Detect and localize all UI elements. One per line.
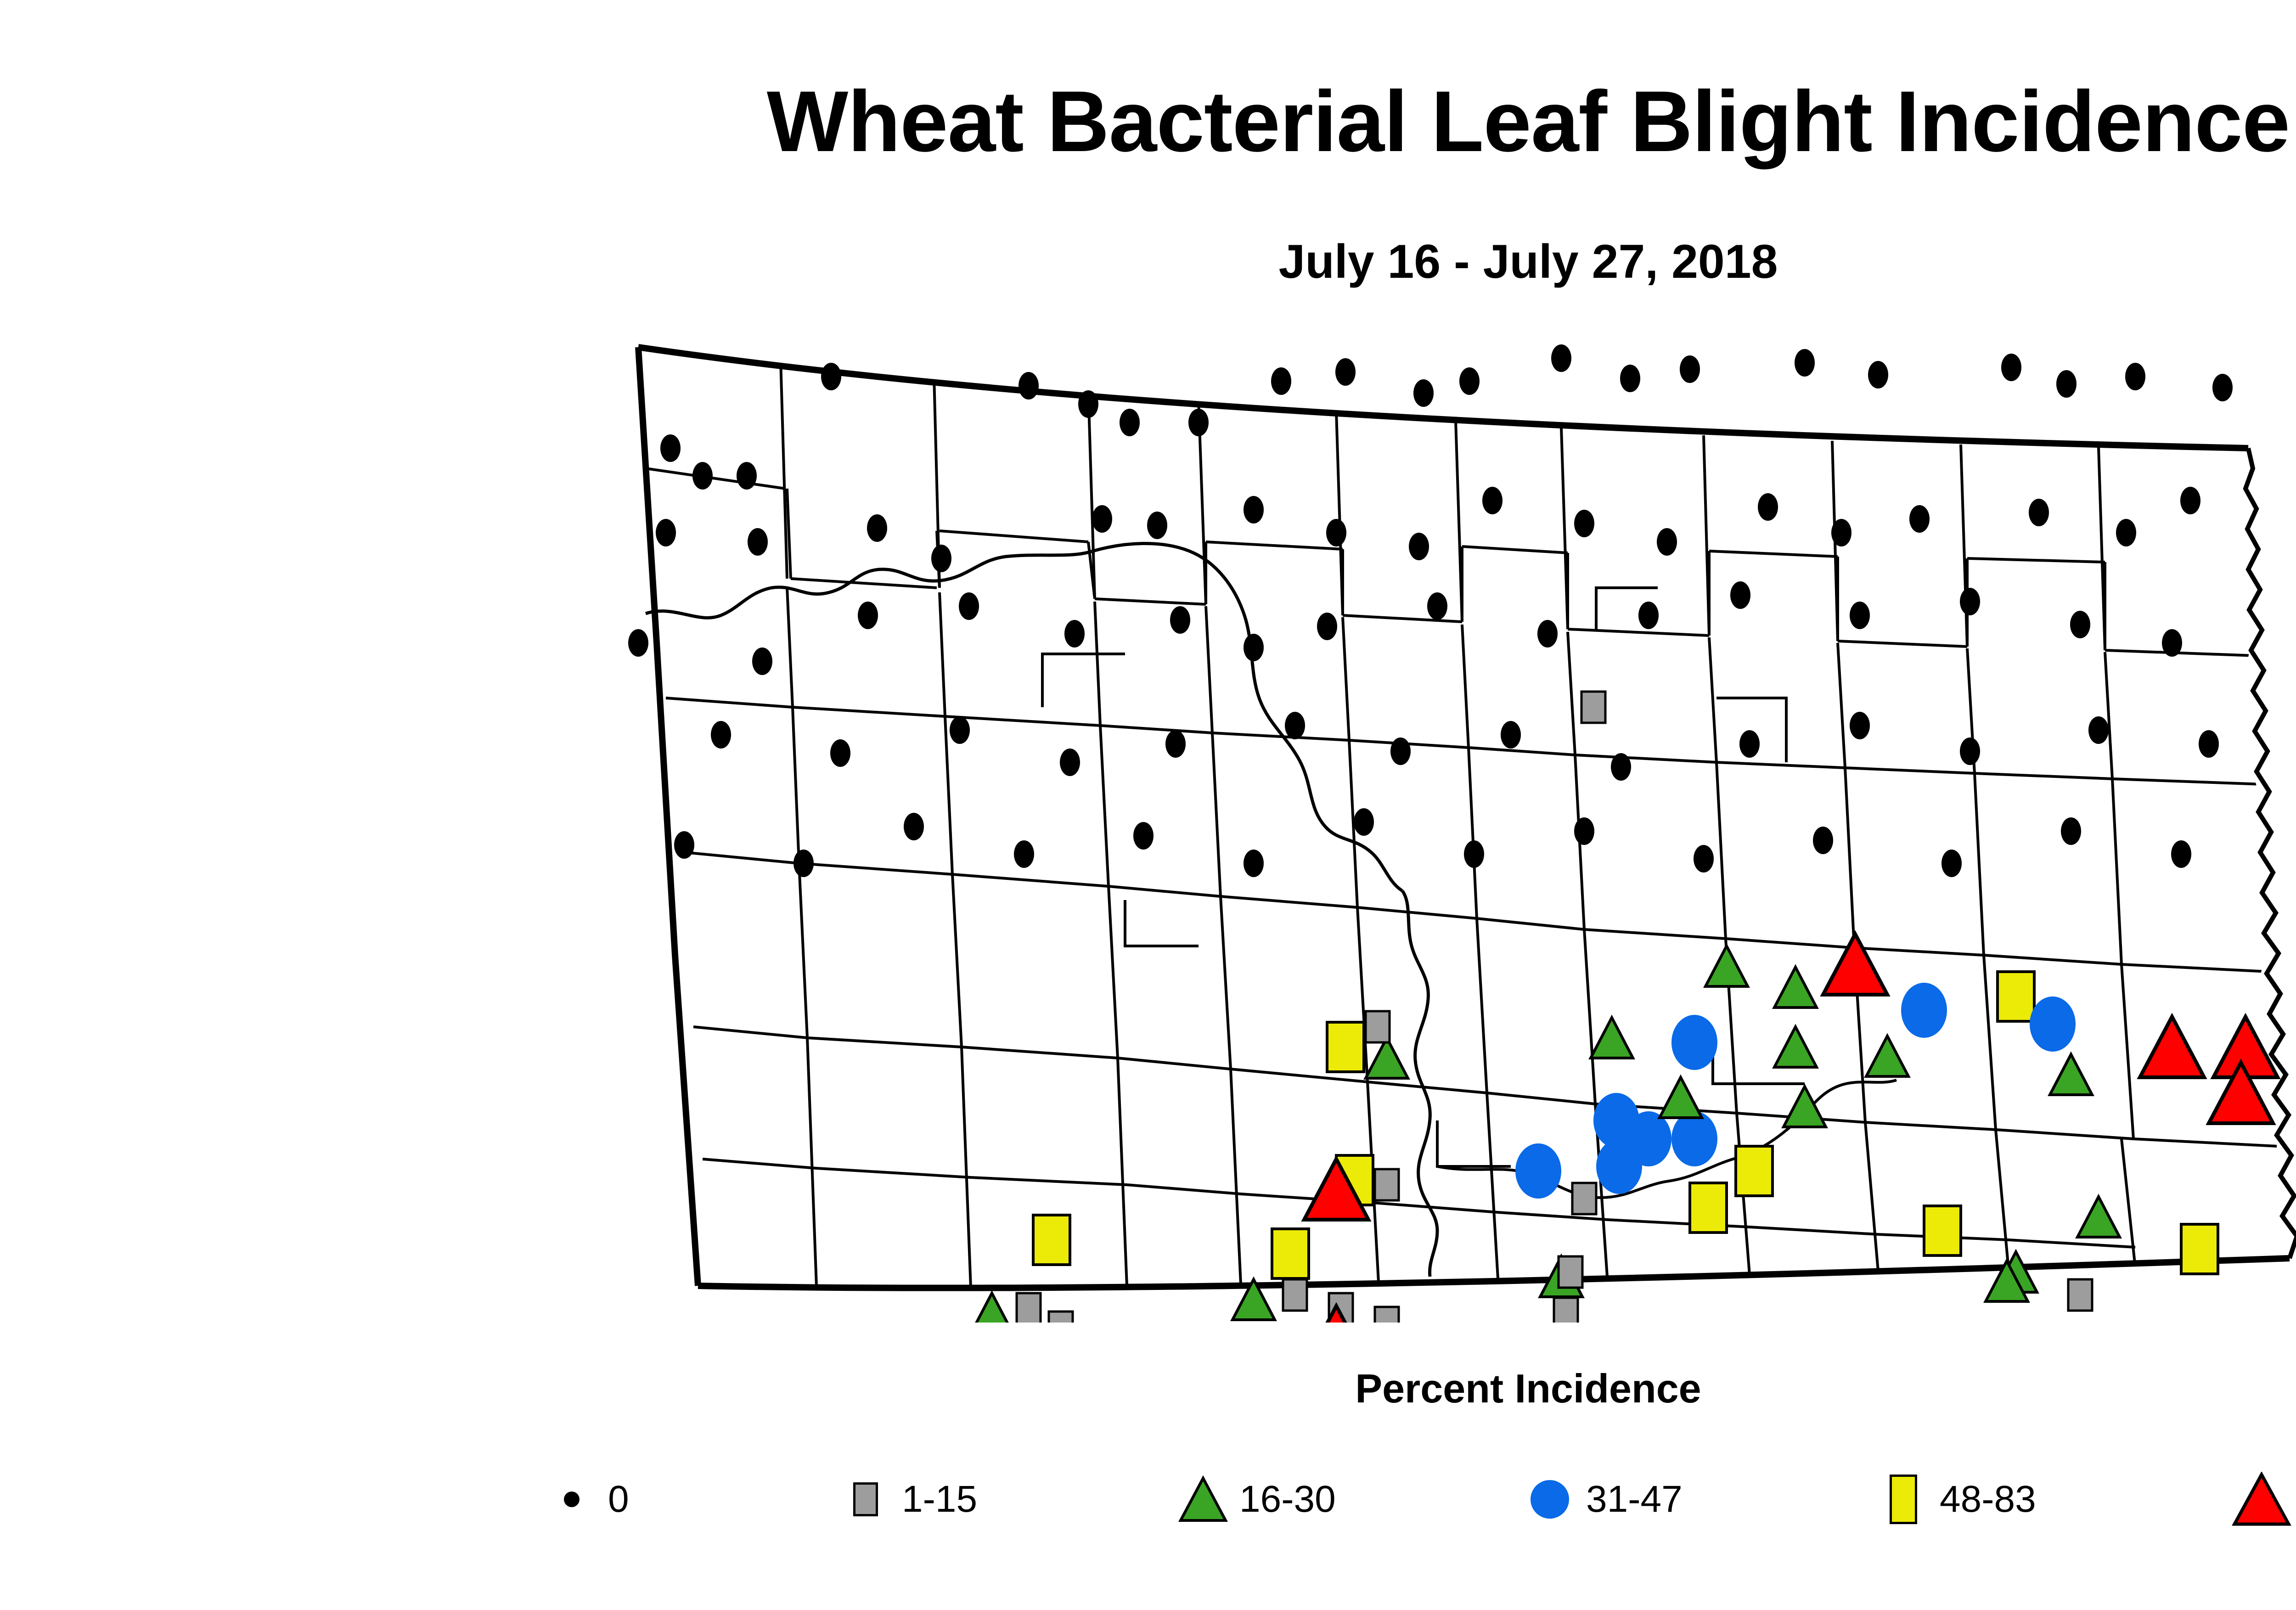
marker-0 <box>1188 409 1209 436</box>
marker-0 <box>1060 749 1080 776</box>
marker-0 <box>1941 850 1962 877</box>
marker-48-83 <box>1272 1229 1309 1278</box>
marker-0 <box>1680 355 1700 383</box>
marker-0 <box>1551 344 1571 372</box>
legend-item-2[interactable]: 16-30 <box>1173 1456 1336 1543</box>
legend-title: Percent Incidence <box>0 1368 2296 1409</box>
marker-0 <box>1459 367 1480 395</box>
map-page: Wheat Bacterial Leaf Blight Incidence Ju… <box>0 0 2296 1610</box>
legend-item-3[interactable]: 31-47 <box>1520 1456 1683 1543</box>
marker-48-83 <box>1736 1146 1773 1196</box>
marker-0 <box>1147 512 1167 539</box>
marker-0 <box>1574 817 1594 845</box>
marker-0 <box>1390 737 1411 765</box>
marker-0 <box>1831 519 1851 546</box>
marker-1-15 <box>1572 1183 1596 1214</box>
red-triangle-icon <box>2232 1469 2291 1529</box>
marker-0 <box>660 434 681 462</box>
marker-31-47 <box>1515 1143 1561 1199</box>
marker-0 <box>674 831 694 859</box>
legend-label-2: 16-30 <box>1239 1478 1336 1521</box>
marker-0 <box>959 592 979 620</box>
page-subtitle: July 16 - July 27, 2018 <box>0 238 2296 286</box>
marker-31-47 <box>2030 996 2076 1052</box>
marker-31-47 <box>1671 1015 1717 1070</box>
marker-1-15 <box>1283 1279 1307 1311</box>
marker-1-15 <box>1581 692 1605 723</box>
marker-0 <box>2199 730 2219 758</box>
legend-item-0[interactable]: 0 <box>542 1456 629 1543</box>
marker-0 <box>830 739 850 767</box>
marker-1-15 <box>1366 1011 1390 1042</box>
marker-0 <box>1574 510 1594 537</box>
legend-label-3: 31-47 <box>1586 1478 1683 1521</box>
marker-0 <box>1694 845 1714 873</box>
marker-0 <box>2070 611 2090 638</box>
marker-0 <box>1271 367 1291 395</box>
marker-0 <box>1413 379 1434 407</box>
marker-0 <box>1501 721 1521 749</box>
marker-48-83 <box>2181 1224 2218 1274</box>
legend-label-4: 48-83 <box>1940 1478 2036 1521</box>
marker-0 <box>1960 588 1980 615</box>
marker-0 <box>1730 581 1750 609</box>
marker-0 <box>752 647 772 675</box>
legend-item-1[interactable]: 1-15 <box>836 1456 977 1543</box>
marker-0 <box>1611 753 1631 781</box>
marker-0 <box>2116 519 2136 546</box>
marker-1-15 <box>1559 1256 1582 1288</box>
marker-0 <box>1868 361 1888 388</box>
marker-0 <box>1813 827 1833 854</box>
marker-0 <box>1537 620 1558 647</box>
marker-0 <box>1092 505 1112 533</box>
yellow-square-icon <box>1874 1469 1933 1529</box>
legend-label-1: 1-15 <box>902 1478 977 1521</box>
marker-0 <box>1133 822 1154 850</box>
marker-0 <box>1739 730 1760 758</box>
marker-0 <box>1427 592 1447 620</box>
marker-0 <box>1244 634 1264 661</box>
black-dot-icon <box>542 1469 602 1529</box>
marker-0 <box>1285 712 1305 739</box>
marker-0 <box>2088 716 2109 744</box>
marker-0 <box>1019 372 1039 400</box>
marker-0 <box>1909 505 1930 533</box>
marker-0 <box>1409 533 1429 560</box>
marker-0 <box>1482 487 1503 514</box>
north-dakota-map <box>611 312 2296 1323</box>
marker-0 <box>2061 817 2081 845</box>
marker-1-15 <box>1554 1298 1578 1323</box>
marker-0 <box>931 545 951 572</box>
marker-0 <box>1064 620 1085 647</box>
marker--83 <box>1304 1306 1368 1323</box>
marker-0 <box>2029 499 2049 526</box>
marker-1-15 <box>1049 1312 1073 1323</box>
marker-0 <box>821 363 841 390</box>
marker-0 <box>628 629 648 657</box>
marker-0 <box>1638 602 1659 629</box>
marker-0 <box>1335 358 1356 386</box>
marker-0 <box>1795 349 1815 377</box>
marker-0 <box>2056 370 2077 398</box>
marker-0 <box>737 462 757 490</box>
marker-0 <box>1354 808 1374 836</box>
marker-0 <box>656 519 676 546</box>
marker-0 <box>867 514 887 542</box>
marker-0 <box>1657 528 1677 556</box>
marker-0 <box>1244 850 1264 877</box>
marker-31-47 <box>1596 1139 1642 1194</box>
marker-48-83 <box>1033 1215 1070 1265</box>
marker-0 <box>711 721 731 749</box>
marker-0 <box>1244 496 1264 524</box>
marker-0 <box>1120 409 1140 436</box>
state-fill <box>638 347 2291 1288</box>
marker-16-30 <box>971 1293 1013 1323</box>
marker-31-47 <box>1671 1111 1717 1166</box>
marker-0 <box>1326 519 1346 546</box>
marker-0 <box>904 813 924 840</box>
marker-0 <box>950 716 970 744</box>
marker-0 <box>1464 840 1484 868</box>
page-title: Wheat Bacterial Leaf Blight Incidence <box>0 78 2296 164</box>
marker-0 <box>2180 487 2200 514</box>
marker-0 <box>1960 737 1980 765</box>
marker-0 <box>2125 363 2145 390</box>
marker-0 <box>1014 840 1034 868</box>
marker-0 <box>2162 629 2182 657</box>
marker-0 <box>2212 374 2233 401</box>
legend-label-0: 0 <box>608 1478 629 1521</box>
legend-item-4[interactable]: 48-83 <box>1874 1456 2036 1543</box>
marker-31-47 <box>1901 983 1947 1038</box>
green-triangle-icon <box>1173 1469 1233 1529</box>
marker-1-15 <box>1375 1169 1399 1200</box>
marker-48-83 <box>1327 1022 1364 1072</box>
gray-square-icon <box>836 1469 895 1529</box>
marker-0 <box>692 462 713 490</box>
marker-0 <box>1620 365 1640 392</box>
marker-0 <box>858 602 878 629</box>
marker-48-83 <box>1690 1183 1727 1233</box>
marker-1-15 <box>1017 1293 1041 1323</box>
marker-0 <box>1078 390 1098 418</box>
marker-0 <box>1165 730 1186 758</box>
marker-0 <box>1850 602 1870 629</box>
marker-48-83 <box>1924 1206 1961 1255</box>
blue-circle-icon <box>1520 1469 1580 1529</box>
legend-item-5[interactable]: > 83 <box>2232 1456 2296 1543</box>
marker-0 <box>1317 613 1337 640</box>
marker-0 <box>2001 354 2021 381</box>
marker-0 <box>793 850 814 877</box>
legend: 0 1-15 16-30 31-47 4 <box>542 1456 2296 1543</box>
marker-0 <box>748 528 768 556</box>
marker-0 <box>1758 493 1778 521</box>
marker-0 <box>1850 712 1870 739</box>
marker-1-15 <box>1375 1307 1399 1323</box>
marker-48-83 <box>1998 972 2034 1021</box>
marker-1-15 <box>2068 1279 2092 1311</box>
marker-0 <box>2171 840 2191 868</box>
marker-0 <box>1170 606 1190 634</box>
